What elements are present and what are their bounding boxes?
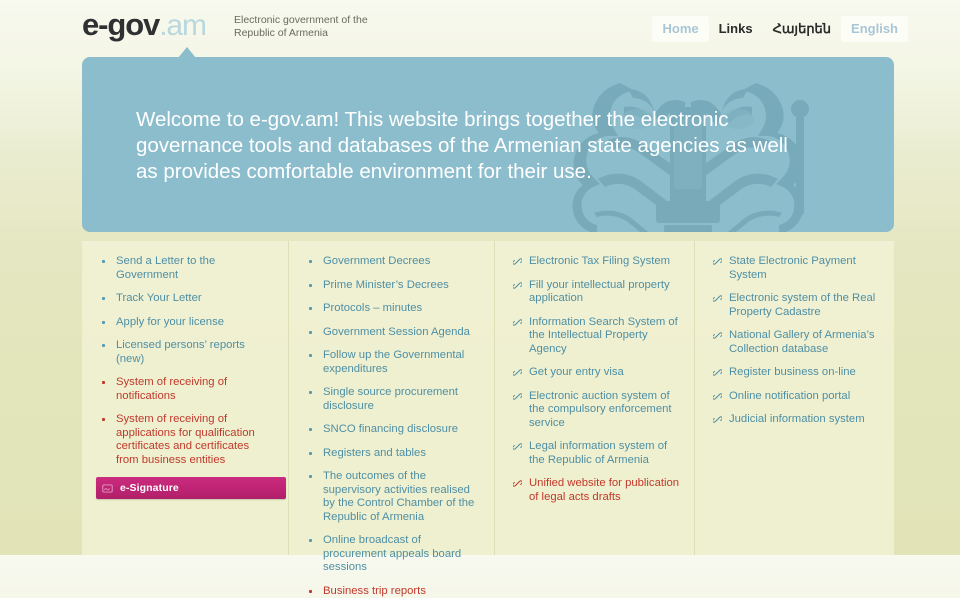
- service-link[interactable]: Get your entry visa: [513, 366, 680, 380]
- site-logo[interactable]: e-gov .am: [82, 8, 206, 43]
- service-link-label: System of receiving of notifications: [116, 376, 227, 402]
- service-link[interactable]: Follow up the Governmental expenditures: [307, 349, 480, 376]
- service-link[interactable]: Electronic Tax Filing System: [513, 255, 680, 269]
- e-signature-button-label: e-Signature: [120, 482, 179, 494]
- service-link[interactable]: Government Session Agenda: [307, 326, 480, 340]
- banner-welcome-text: Welcome to e-gov.am! This website brings…: [136, 107, 806, 185]
- site-tagline: Electronic government of the Republic of…: [234, 14, 394, 39]
- chain-link-icon: [513, 318, 522, 327]
- main-navigation: HomeLinksՀայերենEnglish: [652, 16, 908, 42]
- service-link-label: System of receiving of applications for …: [116, 413, 255, 466]
- logo-primary-text: e-gov: [82, 8, 159, 42]
- service-link-label: Apply for your license: [116, 316, 224, 328]
- chain-link-icon: [513, 257, 522, 266]
- nav-item-links[interactable]: Links: [709, 16, 763, 42]
- chain-link-icon: [513, 442, 522, 451]
- site-header: e-gov .am Electronic government of the R…: [0, 0, 960, 56]
- service-link-label: SNCO financing disclosure: [323, 423, 458, 435]
- service-link-label: Prime Minister’s Decrees: [323, 279, 449, 291]
- service-link-label: Licensed persons’ reports (new): [116, 339, 245, 365]
- service-link-label: Online broadcast of procurement appeals …: [323, 534, 461, 573]
- service-link-label: Electronic auction system of the compuls…: [529, 390, 672, 429]
- service-link[interactable]: Business trip reports: [307, 585, 480, 598]
- service-link-label: Single source procurement disclosure: [323, 386, 458, 412]
- service-link[interactable]: Send a Letter to the Government: [100, 255, 274, 282]
- service-link-label: National Gallery of Armenia’s Collection…: [729, 329, 874, 355]
- service-link-label: Registers and tables: [323, 447, 426, 459]
- service-link[interactable]: SNCO financing disclosure: [307, 423, 480, 437]
- service-link[interactable]: Online broadcast of procurement appeals …: [307, 534, 480, 575]
- nav-item-english[interactable]: English: [841, 16, 908, 42]
- service-link[interactable]: Information Search System of the Intelle…: [513, 316, 680, 357]
- chain-link-icon: [713, 368, 722, 377]
- service-link-label: Online notification portal: [729, 390, 850, 402]
- service-link-label: Track Your Letter: [116, 292, 202, 304]
- service-link[interactable]: Online notification portal: [713, 390, 880, 404]
- service-link[interactable]: Electronic auction system of the compuls…: [513, 390, 680, 431]
- banner-pointer-notch: [178, 47, 196, 58]
- service-link[interactable]: Track Your Letter: [100, 292, 274, 306]
- service-link-label: Legal information system of the Republic…: [529, 440, 667, 466]
- service-link[interactable]: Legal information system of the Republic…: [513, 440, 680, 467]
- welcome-banner: Welcome to e-gov.am! This website brings…: [82, 57, 894, 232]
- service-link-label: The outcomes of the supervisory activiti…: [323, 470, 474, 523]
- service-link-label: Get your entry visa: [529, 366, 624, 378]
- service-link-label: Government Session Agenda: [323, 326, 470, 338]
- service-link[interactable]: Prime Minister’s Decrees: [307, 279, 480, 293]
- nav-item-[interactable]: Հայերեն: [763, 16, 841, 42]
- chain-link-icon: [513, 479, 522, 488]
- chain-link-icon: [713, 331, 722, 340]
- chain-link-icon: [713, 392, 722, 401]
- service-link[interactable]: Electronic system of the Real Property C…: [713, 292, 880, 319]
- service-link[interactable]: Fill your intellectual property applicat…: [513, 279, 680, 306]
- chain-link-icon: [513, 281, 522, 290]
- service-link-label: Send a Letter to the Government: [116, 255, 215, 281]
- service-link-label: Follow up the Governmental expenditures: [323, 349, 464, 375]
- link-column-1: Send a Letter to the GovernmentTrack You…: [82, 241, 288, 555]
- service-links-panel: Send a Letter to the GovernmentTrack You…: [82, 241, 894, 555]
- service-link-label: Government Decrees: [323, 255, 430, 267]
- service-link[interactable]: Unified website for publication of legal…: [513, 477, 680, 504]
- nav-item-home[interactable]: Home: [652, 16, 708, 42]
- service-link-label: Information Search System of the Intelle…: [529, 316, 678, 355]
- service-link[interactable]: Licensed persons’ reports (new): [100, 339, 274, 366]
- link-column-2: Government DecreesPrime Minister’s Decre…: [288, 241, 494, 555]
- service-link-label: Register business on-line: [729, 366, 856, 378]
- service-link[interactable]: Judicial information system: [713, 413, 880, 427]
- chain-link-icon: [513, 368, 522, 377]
- service-link-label: Electronic system of the Real Property C…: [729, 292, 875, 318]
- logo-domain-text: .am: [159, 9, 206, 43]
- service-link[interactable]: The outcomes of the supervisory activiti…: [307, 470, 480, 524]
- service-link[interactable]: Protocols – minutes: [307, 302, 480, 316]
- chain-link-icon: [513, 392, 522, 401]
- service-link[interactable]: Registers and tables: [307, 447, 480, 461]
- service-link[interactable]: Register business on-line: [713, 366, 880, 380]
- signature-card-icon: [102, 483, 113, 494]
- service-link[interactable]: Government Decrees: [307, 255, 480, 269]
- service-link-label: Protocols – minutes: [323, 302, 422, 314]
- service-link[interactable]: Apply for your license: [100, 316, 274, 330]
- chain-link-icon: [713, 257, 722, 266]
- service-link[interactable]: Single source procurement disclosure: [307, 386, 480, 413]
- service-link-label: Electronic Tax Filing System: [529, 255, 670, 267]
- chain-link-icon: [713, 294, 722, 303]
- service-link-label: Fill your intellectual property applicat…: [529, 279, 670, 305]
- service-link[interactable]: System of receiving of notifications: [100, 376, 274, 403]
- service-link-label: Business trip reports: [323, 585, 426, 597]
- link-column-4: State Electronic Payment SystemElectroni…: [694, 241, 894, 555]
- service-link[interactable]: National Gallery of Armenia’s Collection…: [713, 329, 880, 356]
- service-link-label: State Electronic Payment System: [729, 255, 856, 281]
- link-column-3: Electronic Tax Filing SystemFill your in…: [494, 241, 694, 555]
- service-link[interactable]: System of receiving of applications for …: [100, 413, 274, 467]
- service-link[interactable]: State Electronic Payment System: [713, 255, 880, 282]
- service-link-label: Unified website for publication of legal…: [529, 477, 679, 503]
- e-signature-button[interactable]: e-Signature: [96, 477, 286, 499]
- chain-link-icon: [713, 415, 722, 424]
- service-link-label: Judicial information system: [729, 413, 865, 425]
